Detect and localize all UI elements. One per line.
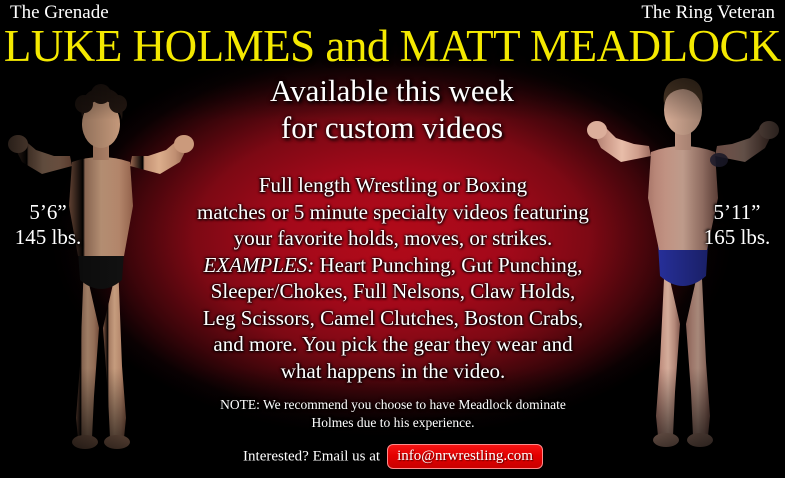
height-value: 5’6” [6, 200, 90, 225]
weight-value: 165 lbs. [693, 225, 781, 250]
promo-banner: The Grenade The Ring Veteran LUKE HOLMES… [0, 0, 785, 478]
promo-line-1: Available this week [180, 72, 604, 109]
promo-line-2: for custom videos [180, 109, 604, 146]
note-text: NOTE: We recommend you choose to have Me… [170, 396, 616, 432]
email-link-button[interactable]: info@nrwrestling.com [387, 444, 543, 469]
examples-label: EXAMPLES: [203, 253, 314, 277]
body-line-5: Sleeper/Chokes, Full Nelsons, Claw Holds… [160, 278, 626, 305]
examples-list-1: Heart Punching, Gut Punching, [314, 253, 582, 277]
body-line-7: and more. You pick the gear they wear an… [160, 331, 626, 358]
stats-matt-meadlock: 5’11” 165 lbs. [693, 200, 781, 250]
body-line-4: EXAMPLES: Heart Punching, Gut Punching, [160, 252, 626, 279]
body-line-2: matches or 5 minute specialty videos fea… [160, 199, 626, 226]
note-line-1: NOTE: We recommend you choose to have Me… [170, 396, 616, 414]
body-line-1: Full length Wrestling or Boxing [160, 172, 626, 199]
body-copy: Full length Wrestling or Boxing matches … [160, 172, 626, 384]
promo-headline: Available this week for custom videos [180, 72, 604, 146]
page-title: LUKE HOLMES and MATT MEADLOCK [0, 22, 785, 70]
body-line-3: your favorite holds, moves, or strikes. [160, 225, 626, 252]
stats-luke-holmes: 5’6” 145 lbs. [6, 200, 90, 250]
note-line-2: Holmes due to his experience. [170, 414, 616, 432]
height-value: 5’11” [693, 200, 781, 225]
weight-value: 145 lbs. [6, 225, 90, 250]
body-line-8: what happens in the video. [160, 358, 626, 385]
cta-label: Interested? Email us at [243, 449, 380, 465]
contact-cta: Interested? Email us atinfo@nrwrestling.… [170, 444, 616, 469]
body-line-6: Leg Scissors, Camel Clutches, Boston Cra… [160, 305, 626, 332]
